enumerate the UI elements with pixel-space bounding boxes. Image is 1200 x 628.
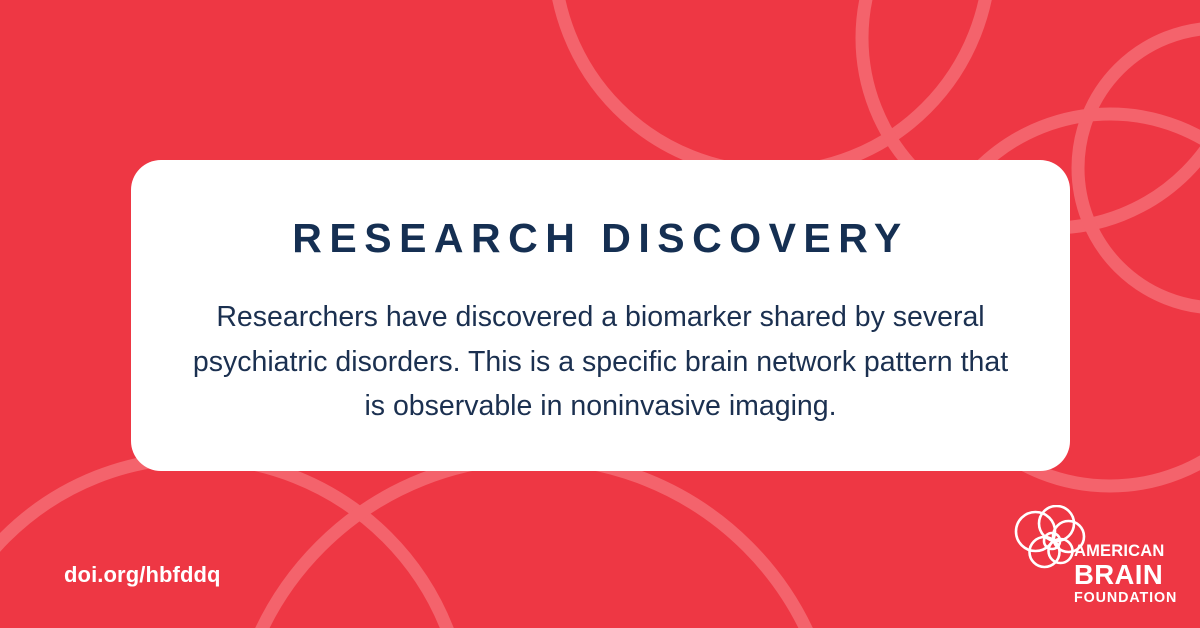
decor-ring-bottom-center	[232, 458, 836, 628]
decor-ring-bottom-left	[0, 458, 466, 628]
content-card: RESEARCH DISCOVERY Researchers have disc…	[131, 160, 1070, 471]
decor-ring-top-right	[1078, 28, 1200, 308]
card-eyebrow-heading: RESEARCH DISCOVERY	[292, 218, 908, 259]
doi-url-link[interactable]: doi.org/hbfddq	[64, 562, 221, 588]
logo-word-foundation: FOUNDATION	[1074, 591, 1182, 606]
american-brain-foundation-logo[interactable]: AMERICAN BRAIN FOUNDATION	[1014, 505, 1180, 603]
card-body-text: Researchers have discovered a biomarker …	[181, 295, 1021, 429]
logo-wordmark: AMERICAN BRAIN FOUNDATION	[1074, 543, 1182, 606]
decor-ring-top-left	[554, 0, 990, 172]
logo-word-brain: BRAIN	[1074, 561, 1182, 589]
logo-word-american: AMERICAN	[1074, 543, 1182, 560]
